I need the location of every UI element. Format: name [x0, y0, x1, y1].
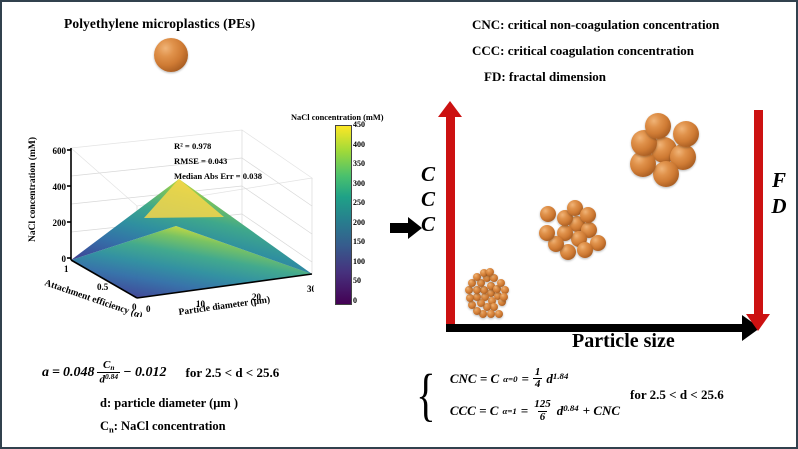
ccc-tail: + CNC [583, 403, 620, 419]
cnc-num: 1 [533, 367, 543, 378]
cluster-medium-aggregate [542, 190, 612, 258]
aggregate-particle [466, 294, 474, 302]
aggregate-particle [487, 310, 495, 318]
equation-cnc: CNC = Cα=0 = 1 4 d1.84 [450, 367, 620, 390]
legend-ccc: CCC: critical coagulation concentration [472, 38, 719, 64]
note-cn-symbol: C [100, 419, 109, 433]
svg-text:600: 600 [53, 146, 67, 156]
ccc-den: 6 [538, 411, 548, 423]
system-condition: for 2.5 < d < 25.6 [630, 387, 724, 403]
z-axis-label: NaCl concentration (mM) [27, 137, 38, 242]
ccc-fraction: 125 6 [532, 399, 553, 422]
pe-title: Polyethylene microplastics (PEs) [64, 16, 255, 32]
fd-axis-label: F D [768, 167, 790, 219]
figure-canvas: Polyethylene microplastics (PEs) CNC: cr… [0, 0, 798, 449]
stat-r2: R² = 0.978 [174, 141, 212, 151]
plot-statistics: R² = 0.978 RMSE = 0.043 Median Abs Err =… [174, 141, 263, 181]
cnc-den: 4 [533, 378, 543, 390]
aggregate-particle [539, 225, 555, 241]
legend-cnc: CNC: critical non-coagulation concentrat… [472, 12, 719, 38]
cluster-large-loose-aggregate [626, 114, 702, 186]
aggregate-particle [473, 286, 481, 294]
surface-plot-3d: 600 400 200 0 NaCl concentration (mM) 1 … [24, 122, 314, 317]
particle-size-label: Particle size [572, 330, 675, 353]
fd-letter-1: F [768, 167, 790, 193]
stat-mae: Median Abs Err = 0.038 [174, 171, 263, 181]
cbar-tick-0: 0 [353, 296, 357, 305]
legend-definitions: CNC: critical non-coagulation concentrat… [472, 12, 719, 90]
aggregate-particle [577, 242, 593, 258]
eq-alpha-lhs: a [42, 365, 49, 381]
eq-alpha-fraction: Cn d0.84 [97, 360, 120, 385]
pe-particle-sphere [154, 38, 188, 72]
aggregate-particle [473, 293, 481, 301]
cbar-tick-350: 350 [353, 159, 365, 168]
cbar-tick-50: 50 [353, 276, 361, 285]
note-particle-diameter: d: particle diameter (μm ) [42, 396, 279, 411]
equation-ccc: CCC = Cα=1 = 125 6 d0.84 + CNC [450, 399, 620, 422]
svg-text:200: 200 [53, 218, 67, 228]
legend-fd: FD: fractal dimension [472, 64, 719, 90]
ccc-letter-2: C [418, 187, 438, 212]
fd-letter-2: D [768, 193, 790, 219]
y-axis-bar [446, 112, 455, 327]
svg-text:1: 1 [64, 264, 69, 274]
note-cn-rest: : NaCl concentration [114, 419, 226, 433]
cbar-tick-150: 150 [353, 237, 365, 246]
fd-axis-bar [754, 110, 763, 322]
ccc-letter-3: C [418, 212, 438, 237]
cnc-rhs-sup: 1.84 [553, 371, 568, 381]
aggregate-particle [653, 161, 679, 187]
ccc-num: 125 [532, 399, 553, 410]
cbar-tick-200: 200 [353, 218, 365, 227]
cluster-small-dense-aggregate [460, 264, 522, 322]
aggregate-particle [465, 286, 473, 294]
cbar-tick-400: 400 [353, 140, 365, 149]
frac-den-sup: 0.84 [105, 372, 118, 381]
alpha-equation-block: a = 0.048 Cn d0.84 − 0.012 for 2.5 < d <… [42, 360, 279, 435]
cnc-lhs: CNC = C [450, 371, 499, 387]
cbar-tick-300: 300 [353, 179, 365, 188]
ccc-lhs-sub: α=1 [502, 406, 516, 416]
z-axis-ticks: 600 400 200 0 [53, 146, 67, 264]
cnc-lhs-sub: α=0 [503, 374, 517, 384]
ccc-eq: = [521, 403, 528, 419]
colorbar-gradient [335, 125, 352, 305]
aggregate-particle [673, 121, 699, 147]
eq-alpha-minus: − 0.012 [123, 365, 166, 381]
aggregate-particle [500, 293, 508, 301]
eq-alpha-coef: 0.048 [63, 365, 95, 381]
cnc-ccc-system-block: { CNC = Cα=0 = 1 4 d1.84 CCC = Cα=1 = 12… [412, 367, 724, 423]
aggregate-particle [540, 206, 556, 222]
cbar-tick-450: 450 [353, 120, 365, 129]
svg-text:0.5: 0.5 [97, 282, 109, 292]
eq-alpha-condition: for 2.5 < d < 25.6 [186, 365, 280, 381]
cbar-tick-100: 100 [353, 257, 365, 266]
system-brace-icon: { [416, 370, 435, 420]
stat-rmse: RMSE = 0.043 [174, 156, 227, 166]
cbar-tick-250: 250 [353, 198, 365, 207]
cnc-fraction: 1 4 [533, 367, 543, 390]
aggregate-particle [645, 113, 671, 139]
note-nacl-concentration: Cn: NaCl concentration [42, 419, 279, 434]
eq-alpha-eq: = [52, 365, 60, 381]
fd-axis-arrowhead-icon [746, 314, 770, 331]
colorbar-ticks: 450 400 350 300 250 200 150 100 50 0 [353, 120, 383, 310]
svg-text:400: 400 [53, 182, 67, 192]
ccc-letter-1: C [418, 162, 438, 187]
ccc-rhs-sup: 0.84 [563, 403, 578, 413]
aggregate-particle [495, 310, 503, 318]
ccc-axis-label: C C C [418, 162, 438, 237]
ccc-lhs: CCC = C [450, 403, 499, 419]
cnc-eq: = [522, 371, 529, 387]
svg-text:0: 0 [146, 304, 151, 314]
svg-text:0: 0 [62, 254, 67, 264]
svg-text:30: 30 [307, 284, 314, 294]
x-axis-label: Particle diameter (μm) [178, 294, 271, 317]
aggregate-particle [580, 207, 596, 223]
